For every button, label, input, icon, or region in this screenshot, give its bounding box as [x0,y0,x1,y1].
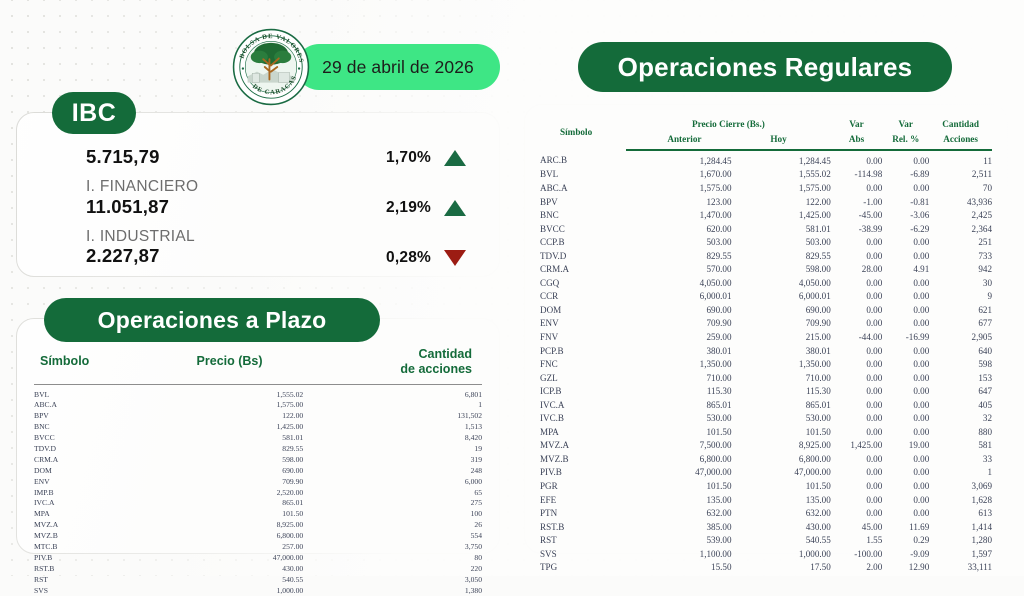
regulares-row: BVCC620.00581.01-38.99-6.292,364 [540,222,992,236]
plazo-cell: 1 [303,400,482,411]
regulares-cell: GZL [540,371,626,385]
arrow-down-icon [444,250,466,266]
plazo-row: CRM.A598.00319 [34,454,482,465]
plazo-cell: TDV.D [34,444,156,455]
regulares-cell: 405 [929,398,992,412]
regulares-cell: BVCC [540,222,626,236]
regulares-cell: 0.00 [831,452,883,466]
arrow-up-icon [444,150,466,166]
reg-col-qty-line1: Cantidad [929,118,992,133]
regulares-cell: TDV.D [540,249,626,263]
regulares-cell: 1,414 [929,520,992,534]
regulares-cell: BNC [540,209,626,223]
regulares-cell: MVZ.A [540,439,626,453]
regulares-cell: EFE [540,493,626,507]
regulares-table: Símbolo Precio Cierre (Bs.) Var Var Cant… [540,118,992,574]
plazo-cell: BPV [34,411,156,422]
regulares-cell: 0.00 [882,150,929,168]
regulares-row: CCP.B503.00503.000.000.00251 [540,236,992,250]
regulares-cell: 17.50 [732,561,831,575]
regulares-cell: -16.99 [882,330,929,344]
regulares-cell: 632.00 [626,507,731,521]
regulares-cell: -100.00 [831,547,883,561]
ibc-row-main: 5.715,79 1,70% [86,146,466,167]
regulares-cell: 2.00 [831,561,883,575]
regulares-row: DOM690.00690.000.000.00621 [540,303,992,317]
plazo-cell: ENV [34,476,156,487]
regulares-cell: -1.00 [831,195,883,209]
regulares-row: ICP.B115.30115.300.000.00647 [540,385,992,399]
regulares-cell: 47,000.00 [626,466,731,480]
regulares-cell: 0.00 [831,398,883,412]
regulares-cell: 4,050.00 [626,276,731,290]
regulares-cell: 581.01 [732,222,831,236]
regulares-cell: 503.00 [626,236,731,250]
plazo-table-head: Símbolo Precio (Bs) Cantidad de acciones [34,346,482,384]
regulares-cell: 0.00 [831,479,883,493]
regulares-cell: 385.00 [626,520,731,534]
plazo-row: MVZ.A8,925.0026 [34,520,482,531]
regulares-cell: 0.00 [882,290,929,304]
regulares-cell: RST [540,534,626,548]
regulares-cell: 0.00 [882,236,929,250]
regulares-cell: 1,284.45 [732,150,831,168]
plazo-cell: 1,000.00 [156,585,303,596]
plazo-cell: 47,000.00 [156,552,303,563]
reg-col-varabs-line1: Var [831,118,883,133]
regulares-cell: 1,575.00 [732,181,831,195]
plazo-cell: 131,502 [303,411,482,422]
regulares-cell: 0.00 [831,371,883,385]
regulares-cell: CRM.A [540,263,626,277]
reg-col-varabs-line2: Abs [831,133,883,150]
plazo-cell: BVCC [34,433,156,444]
regulares-cell: 942 [929,263,992,277]
regulares-cell: 380.01 [732,344,831,358]
plazo-row: PIV.B47,000.0080 [34,552,482,563]
regulares-cell: 0.00 [882,452,929,466]
regulares-cell: -38.99 [831,222,883,236]
regulares-cell: 598 [929,358,992,372]
regulares-cell: 710.00 [732,371,831,385]
regulares-cell: 380.01 [626,344,731,358]
regulares-cell: -6.89 [882,168,929,182]
plazo-cell: 1,555.02 [156,384,303,400]
regulares-cell: -9.09 [882,547,929,561]
regulares-cell: 45.00 [831,520,883,534]
plazo-cell: 598.00 [156,454,303,465]
regulares-cell: 15.50 [626,561,731,575]
ibc-title: IBC [72,99,117,128]
regulares-row: BNC1,470.001,425.00-45.00-3.062,425 [540,209,992,223]
plazo-title-pill: Operaciones a Plazo [44,298,380,342]
plazo-col-symbol: Símbolo [34,346,156,384]
date-label: 29 de abril de 2026 [322,57,474,78]
regulares-cell: 865.01 [626,398,731,412]
regulares-cell: 115.30 [626,385,731,399]
plazo-cell: 1,380 [303,585,482,596]
regulares-cell: PCP.B [540,344,626,358]
regulares-cell: PIV.B [540,466,626,480]
regulares-cell: ICP.B [540,385,626,399]
regulares-row: MPA101.50101.500.000.00880 [540,425,992,439]
regulares-cell: 430.00 [732,520,831,534]
regulares-cell: IVC.B [540,412,626,426]
regulares-cell: RST.B [540,520,626,534]
plazo-row: MPA101.50100 [34,509,482,520]
regulares-cell: IVC.A [540,398,626,412]
reg-col-varrel-line2: Rel. % [882,133,929,150]
plazo-col-qty-line2: de acciones [304,362,472,377]
regulares-cell: -44.00 [831,330,883,344]
regulares-cell: 503.00 [732,236,831,250]
regulares-row: CCR6,000.016,000.010.000.009 [540,290,992,304]
plazo-row: BVCC581.018,420 [34,433,482,444]
arrow-up-icon [444,200,466,216]
regulares-table-body: ARC.B1,284.451,284.450.000.0011BVL1,670.… [540,150,992,574]
regulares-cell: 6,000.01 [626,290,731,304]
regulares-cell: 215.00 [732,330,831,344]
plazo-cell: 8,420 [303,433,482,444]
plazo-cell: 100 [303,509,482,520]
ibc-main-pct: 1,70% [386,149,431,167]
regulares-cell: 115.30 [732,385,831,399]
reg-col-hoy: Hoy [732,133,831,150]
regulares-cell: 30 [929,276,992,290]
regulares-cell: 0.00 [831,236,883,250]
reg-col-qty-line2: Acciones [929,133,992,150]
regulares-cell: 690.00 [626,303,731,317]
regulares-cell: 0.00 [831,290,883,304]
plazo-cell: BVL [34,384,156,400]
regulares-cell: 613 [929,507,992,521]
regulares-cell: 530.00 [626,412,731,426]
regulares-title: Operaciones Regulares [618,52,913,83]
plazo-cell: 430.00 [156,563,303,574]
regulares-cell: 0.00 [882,344,929,358]
plazo-cell: BNC [34,422,156,433]
regulares-cell: TPG [540,561,626,575]
regulares-cell: 70 [929,181,992,195]
regulares-row: BPV123.00122.00-1.00-0.8143,936 [540,195,992,209]
regulares-cell: 677 [929,317,992,331]
regulares-cell: 1,597 [929,547,992,561]
regulares-cell: ARC.B [540,150,626,168]
regulares-cell: MVZ.B [540,452,626,466]
regulares-cell: 1,628 [929,493,992,507]
plazo-cell: MVZ.A [34,520,156,531]
ibc-industrial-value: 2.227,87 [86,245,195,266]
regulares-cell: 2,511 [929,168,992,182]
regulares-cell: 0.29 [882,534,929,548]
plazo-cell: 6,000 [303,476,482,487]
regulares-cell: 4,050.00 [732,276,831,290]
regulares-cell: 0.00 [831,344,883,358]
regulares-cell: -0.81 [882,195,929,209]
regulares-cell: 251 [929,236,992,250]
regulares-cell: CGQ [540,276,626,290]
plazo-col-qty: Cantidad de acciones [303,346,482,384]
regulares-cell: 570.00 [626,263,731,277]
regulares-row: EFE135.00135.000.000.001,628 [540,493,992,507]
regulares-cell: BVL [540,168,626,182]
regulares-cell: 135.00 [626,493,731,507]
ibc-index-list: 5.715,79 1,70% I. FINANCIERO 11.051,87 2… [16,124,500,277]
plazo-cell: 2,520.00 [156,487,303,498]
plazo-cell: 3,750 [303,542,482,553]
regulares-cell: 2,905 [929,330,992,344]
plazo-cell: IMP.B [34,487,156,498]
regulares-cell: 43,936 [929,195,992,209]
regulares-cell: 709.90 [626,317,731,331]
plazo-cell: 8,925.00 [156,520,303,531]
plazo-row: BPV122.00131,502 [34,411,482,422]
reg-col-varrel-line1: Var [882,118,929,133]
regulares-cell: 0.00 [831,303,883,317]
regulares-cell: 0.00 [831,507,883,521]
plazo-cell: MVZ.B [34,531,156,542]
regulares-cell: 0.00 [831,493,883,507]
regulares-cell: ABC.A [540,181,626,195]
regulares-cell: 710.00 [626,371,731,385]
ibc-title-pill: IBC [52,92,136,134]
plazo-cell: 865.01 [156,498,303,509]
regulares-cell: 0.00 [882,466,929,480]
regulares-row: IVC.A865.01865.010.000.00405 [540,398,992,412]
regulares-cell: DOM [540,303,626,317]
regulares-cell: 0.00 [882,493,929,507]
regulares-row: MVZ.A7,500.008,925.001,425.0019.00581 [540,439,992,453]
date-badge: 29 de abril de 2026 [296,44,500,90]
regulares-cell: 0.00 [882,371,929,385]
regulares-row: RST.B385.00430.0045.0011.691,414 [540,520,992,534]
regulares-cell: 621 [929,303,992,317]
plazo-cell: 65 [303,487,482,498]
regulares-row: GZL710.00710.000.000.00153 [540,371,992,385]
regulares-cell: 32 [929,412,992,426]
regulares-cell: 0.00 [882,385,929,399]
regulares-cell: 2,364 [929,222,992,236]
plazo-row: RST.B430.00220 [34,563,482,574]
regulares-cell: FNV [540,330,626,344]
plazo-cell: CRM.A [34,454,156,465]
regulares-row: MVZ.B6,800.006,800.000.000.0033 [540,452,992,466]
ibc-financiero-pct: 2,19% [386,199,431,217]
regulares-cell: 2,425 [929,209,992,223]
regulares-cell: 101.50 [626,479,731,493]
regulares-cell: 1,425.00 [831,439,883,453]
ibc-main-value: 5.715,79 [86,146,160,167]
regulares-cell: 1,350.00 [626,358,731,372]
plazo-cell: 6,801 [303,384,482,400]
regulares-cell: 0.00 [882,181,929,195]
regulares-cell: 101.50 [732,479,831,493]
plazo-table: Símbolo Precio (Bs) Cantidad de acciones… [34,346,482,596]
regulares-cell: 829.55 [626,249,731,263]
regulares-cell: 0.00 [831,466,883,480]
plazo-cell: 319 [303,454,482,465]
regulares-row: ENV709.90709.900.000.00677 [540,317,992,331]
regulares-cell: 530.00 [732,412,831,426]
regulares-cell: 0.00 [831,385,883,399]
regulares-cell: 1,670.00 [626,168,731,182]
regulares-cell: 733 [929,249,992,263]
regulares-cell: SVS [540,547,626,561]
regulares-cell: -6.29 [882,222,929,236]
regulares-cell: 0.00 [882,398,929,412]
regulares-table-head: Símbolo Precio Cierre (Bs.) Var Var Cant… [540,118,992,150]
regulares-cell: 0.00 [882,425,929,439]
plazo-row: DOM690.00248 [34,465,482,476]
regulares-row: BVL1,670.001,555.02-114.98-6.892,511 [540,168,992,182]
regulares-row: FNV259.00215.00-44.00-16.992,905 [540,330,992,344]
regulares-cell: 6,000.01 [732,290,831,304]
regulares-cell: 4.91 [882,263,929,277]
regulares-row: CGQ4,050.004,050.000.000.0030 [540,276,992,290]
regulares-row: RST539.00540.551.550.291,280 [540,534,992,548]
regulares-row: PTN632.00632.000.000.00613 [540,507,992,521]
regulares-row: ABC.A1,575.001,575.000.000.0070 [540,181,992,195]
plazo-row: MVZ.B6,800.00554 [34,531,482,542]
ibc-row-financiero: I. FINANCIERO 11.051,87 2,19% [86,178,466,217]
plazo-row: ENV709.906,000 [34,476,482,487]
regulares-cell: 0.00 [882,249,929,263]
regulares-cell: 0.00 [882,412,929,426]
regulares-cell: 880 [929,425,992,439]
regulares-cell: 0.00 [882,479,929,493]
plazo-row: ABC.A1,575.001 [34,400,482,411]
regulares-cell: 0.00 [831,358,883,372]
regulares-cell: FNC [540,358,626,372]
regulares-cell: 1,555.02 [732,168,831,182]
plazo-table-wrapper: Símbolo Precio (Bs) Cantidad de acciones… [16,318,500,554]
regulares-cell: 19.00 [882,439,929,453]
regulares-row: TPG15.5017.502.0012.9033,111 [540,561,992,575]
plazo-row: IVC.A865.01275 [34,498,482,509]
regulares-cell: 539.00 [626,534,731,548]
regulares-cell: 1,100.00 [626,547,731,561]
regulares-cell: -3.06 [882,209,929,223]
regulares-row: PGR101.50101.500.000.003,069 [540,479,992,493]
bvc-logo-icon: BOLSA DE VALORES DE CARACAS [232,28,310,106]
plazo-cell: 257.00 [156,542,303,553]
plazo-cell: IVC.A [34,498,156,509]
regulares-cell: 3,069 [929,479,992,493]
plazo-cell: 26 [303,520,482,531]
regulares-cell: 12.90 [882,561,929,575]
reg-col-symbol: Símbolo [540,118,626,150]
plazo-row: MTC.B257.003,750 [34,542,482,553]
regulares-cell: 0.00 [882,507,929,521]
regulares-cell: 122.00 [732,195,831,209]
plazo-cell: 554 [303,531,482,542]
regulares-cell: 153 [929,371,992,385]
regulares-row: TDV.D829.55829.550.000.00733 [540,249,992,263]
regulares-cell: 8,925.00 [732,439,831,453]
regulares-cell: 0.00 [882,358,929,372]
regulares-row: CRM.A570.00598.0028.004.91942 [540,263,992,277]
regulares-row: SVS1,100.001,000.00-100.00-9.091,597 [540,547,992,561]
regulares-cell: 709.90 [732,317,831,331]
regulares-row: ARC.B1,284.451,284.450.000.0011 [540,150,992,168]
regulares-cell: 0.00 [831,412,883,426]
regulares-cell: 0.00 [831,425,883,439]
plazo-cell: 122.00 [156,411,303,422]
regulares-cell: 1,280 [929,534,992,548]
regulares-cell: 865.01 [732,398,831,412]
regulares-cell: 829.55 [732,249,831,263]
plazo-cell: 829.55 [156,444,303,455]
regulares-cell: -45.00 [831,209,883,223]
regulares-cell: 1 [929,466,992,480]
plazo-cell: 248 [303,465,482,476]
regulares-cell: PGR [540,479,626,493]
plazo-cell: 1,513 [303,422,482,433]
regulares-cell: 0.00 [882,317,929,331]
regulares-cell: BPV [540,195,626,209]
regulares-cell: 135.00 [732,493,831,507]
regulares-row: PCP.B380.01380.010.000.00640 [540,344,992,358]
regulares-cell: 0.00 [882,276,929,290]
regulares-cell: MPA [540,425,626,439]
regulares-cell: 9 [929,290,992,304]
regulares-cell: CCP.B [540,236,626,250]
plazo-row: TDV.D829.5519 [34,444,482,455]
regulares-cell: 259.00 [626,330,731,344]
regulares-cell: 33,111 [929,561,992,575]
plazo-cell: SVS [34,585,156,596]
regulares-cell: 1,000.00 [732,547,831,561]
regulares-cell: 1.55 [831,534,883,548]
regulares-row: FNC1,350.001,350.000.000.00598 [540,358,992,372]
regulares-cell: 1,470.00 [626,209,731,223]
regulares-cell: 47,000.00 [732,466,831,480]
ibc-row-industrial: I. INDUSTRIAL 2.227,87 0,28% [86,228,466,267]
regulares-table-wrapper: Símbolo Precio Cierre (Bs.) Var Var Cant… [524,104,1008,554]
plazo-cell: 690.00 [156,465,303,476]
regulares-cell: 632.00 [732,507,831,521]
ibc-industrial-pct: 0,28% [386,249,431,267]
plazo-row: BNC1,425.001,513 [34,422,482,433]
regulares-cell: 0.00 [831,150,883,168]
plazo-cell: MTC.B [34,542,156,553]
regulares-row: PIV.B47,000.0047,000.000.000.001 [540,466,992,480]
regulares-cell: 640 [929,344,992,358]
regulares-cell: 123.00 [626,195,731,209]
regulares-cell: 33 [929,452,992,466]
reg-col-price-group: Precio Cierre (Bs.) [626,118,831,133]
plazo-table-body: BVL1,555.026,801ABC.A1,575.001BPV122.001… [34,384,482,596]
regulares-cell: 581 [929,439,992,453]
regulares-cell: 101.50 [732,425,831,439]
plazo-cell: 709.90 [156,476,303,487]
ibc-financiero-label: I. FINANCIERO [86,178,198,195]
regulares-cell: 0.00 [831,249,883,263]
regulares-cell: -114.98 [831,168,883,182]
plazo-cell: 19 [303,444,482,455]
ibc-financiero-value: 11.051,87 [86,196,198,217]
plazo-cell: 1,425.00 [156,422,303,433]
regulares-cell: PTN [540,507,626,521]
regulares-cell: 11 [929,150,992,168]
regulares-cell: 0.00 [882,303,929,317]
regulares-cell: 1,425.00 [732,209,831,223]
regulares-cell: 690.00 [732,303,831,317]
plazo-cell: 80 [303,552,482,563]
plazo-cell: 220 [303,563,482,574]
regulares-cell: 1,284.45 [626,150,731,168]
plazo-cell: 101.50 [156,509,303,520]
